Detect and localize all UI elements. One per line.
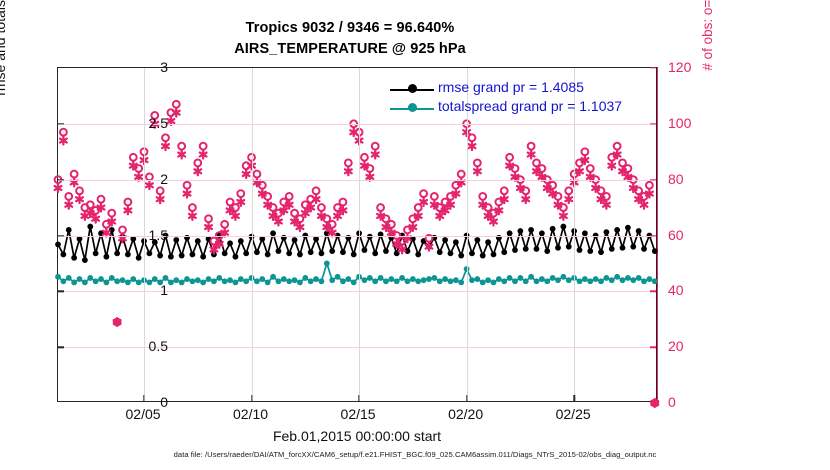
obs-possible-marker xyxy=(162,134,169,141)
obs-possible-marker xyxy=(474,160,481,167)
series-marker xyxy=(512,278,518,284)
series-marker xyxy=(405,278,411,284)
series-marker xyxy=(302,275,308,281)
series-marker xyxy=(646,276,652,282)
y-tick-mark-left xyxy=(58,346,64,347)
obs-assimilated-marker xyxy=(528,151,535,159)
series-marker xyxy=(351,280,357,286)
chart-title-line2: AIRS_TEMPERATURE @ 925 hPa xyxy=(0,39,700,60)
series-marker xyxy=(340,249,346,255)
y-tick-label-right: 100 xyxy=(668,115,708,131)
series-marker xyxy=(437,278,443,284)
obs-possible-marker xyxy=(415,204,422,211)
obs-assimilated-marker xyxy=(565,195,572,203)
legend-item-rmse: rmse grand pr = 1.4085 xyxy=(390,80,652,99)
legend-marker-totalspread xyxy=(408,103,417,112)
series-marker xyxy=(227,240,233,246)
series-marker xyxy=(71,280,77,286)
series-marker xyxy=(60,252,66,258)
series-marker xyxy=(442,276,448,282)
series-marker xyxy=(474,237,480,243)
series-marker xyxy=(136,255,142,261)
series-marker xyxy=(458,253,464,259)
series-marker xyxy=(308,249,314,255)
series-marker xyxy=(512,247,518,253)
obs-assimilated-marker xyxy=(60,137,67,145)
obs-possible-marker xyxy=(345,160,352,167)
series-marker xyxy=(523,246,529,252)
series-marker xyxy=(55,274,61,280)
y-tick-label-right: 40 xyxy=(668,282,708,298)
series-marker xyxy=(577,247,583,253)
obs-possible-marker xyxy=(60,129,67,136)
obs-assimilated-marker xyxy=(200,151,207,159)
series-marker xyxy=(259,276,265,282)
series-marker xyxy=(501,278,507,284)
series-marker xyxy=(179,280,185,286)
series-marker xyxy=(173,277,179,283)
y-axis-label-right: # of obs: o=possible; ×=assimilated xyxy=(700,0,715,95)
obs-assimilated-marker xyxy=(157,195,164,203)
series-marker xyxy=(87,275,93,281)
series-marker xyxy=(394,278,400,284)
x-axis-label: Feb.01,2015 00:00:00 start xyxy=(57,428,657,444)
obs-possible-marker xyxy=(565,187,572,194)
series-marker xyxy=(243,278,249,284)
obs-possible-marker xyxy=(372,143,379,150)
series-marker xyxy=(458,280,464,286)
series-marker xyxy=(566,244,572,250)
obs-possible-marker xyxy=(65,193,72,200)
obs-possible-marker xyxy=(184,182,191,189)
series-marker xyxy=(297,252,303,258)
obs-possible-marker xyxy=(528,143,535,150)
series-marker xyxy=(281,276,287,282)
series-marker xyxy=(173,237,179,243)
y-tick-mark-right xyxy=(650,235,656,236)
series-marker xyxy=(216,275,222,281)
y-tick-label-right: 0 xyxy=(668,394,708,410)
obs-assimilated-marker xyxy=(194,167,201,175)
y-tick-label-left: 2.5 xyxy=(128,115,168,131)
series-marker xyxy=(528,227,534,233)
series-marker xyxy=(577,278,583,284)
series-marker xyxy=(480,253,486,259)
series-marker xyxy=(265,252,271,258)
obs-possible-marker xyxy=(377,204,384,211)
series-marker xyxy=(652,278,658,284)
series-marker xyxy=(609,277,615,283)
series-marker xyxy=(410,276,416,282)
obs-possible-marker xyxy=(189,204,196,211)
series-marker xyxy=(93,278,99,284)
series-marker xyxy=(200,254,206,260)
series-marker xyxy=(614,274,620,280)
series-marker xyxy=(55,242,61,248)
obs-possible-marker xyxy=(173,101,180,108)
series-marker xyxy=(372,250,378,256)
series-marker xyxy=(378,275,384,281)
series-marker xyxy=(598,278,604,284)
series-marker xyxy=(276,248,282,254)
obs-possible-marker xyxy=(194,160,201,167)
series-marker xyxy=(120,277,126,283)
series-marker xyxy=(103,254,109,260)
series-marker xyxy=(227,277,233,283)
y-tick-mark-right xyxy=(650,179,656,180)
series-marker xyxy=(625,225,631,231)
x-tick-mark xyxy=(251,395,252,401)
series-line-totalspread xyxy=(58,263,655,282)
obs-possible-marker xyxy=(614,143,621,150)
series-marker xyxy=(254,278,260,284)
series-marker xyxy=(157,253,163,259)
series-marker xyxy=(103,280,109,286)
obs-assimilated-marker xyxy=(178,151,185,159)
series-marker xyxy=(534,278,540,284)
chart-legend: rmse grand pr = 1.4085 totalspread grand… xyxy=(390,80,652,120)
series-marker xyxy=(351,252,357,258)
series-marker xyxy=(190,278,196,284)
obs-assimilated-marker xyxy=(125,206,132,214)
series-marker xyxy=(200,280,206,286)
series-marker xyxy=(233,254,239,260)
obs-possible-marker xyxy=(157,187,164,194)
series-marker xyxy=(485,277,491,283)
figure-canvas: Tropics 9032 / 9346 = 96.640% AIRS_TEMPE… xyxy=(0,0,830,470)
obs-possible-marker xyxy=(469,134,476,141)
series-marker xyxy=(431,275,437,281)
obs-possible-marker xyxy=(458,171,465,178)
y-tick-mark-right xyxy=(650,346,656,347)
series-marker xyxy=(603,229,609,235)
series-marker xyxy=(292,237,298,243)
series-marker xyxy=(319,250,325,256)
series-marker xyxy=(168,280,174,286)
x-tick-label: 02/05 xyxy=(125,406,160,422)
series-marker xyxy=(98,276,104,282)
obs-possible-marker xyxy=(221,221,228,228)
y-tick-label-right: 80 xyxy=(668,171,708,187)
series-marker xyxy=(636,228,642,234)
series-marker xyxy=(286,278,292,284)
obs-possible-marker xyxy=(420,190,427,197)
y-tick-mark-right xyxy=(650,123,656,124)
y-axis-label-left: rmse and totalspread xyxy=(0,0,8,140)
series-marker xyxy=(582,276,588,282)
series-marker xyxy=(480,280,486,286)
series-marker xyxy=(544,248,550,254)
chart-title: Tropics 9032 / 9346 = 96.640% AIRS_TEMPE… xyxy=(0,18,700,60)
series-marker xyxy=(453,239,459,245)
series-marker xyxy=(270,274,276,280)
obs-possible-marker xyxy=(581,148,588,155)
series-marker xyxy=(625,275,631,281)
obs-possible-marker xyxy=(237,190,244,197)
series-marker xyxy=(469,250,475,256)
obs-possible-marker xyxy=(286,193,293,200)
y-tick-label-left: 0.5 xyxy=(128,338,168,354)
series-marker xyxy=(630,277,636,283)
series-marker xyxy=(620,245,626,251)
series-marker xyxy=(362,247,368,253)
y-tick-label-right: 60 xyxy=(668,227,708,243)
series-marker xyxy=(114,278,120,284)
series-marker xyxy=(620,277,626,283)
obs-possible-marker xyxy=(318,204,325,211)
obs-possible-marker xyxy=(205,215,212,222)
y-tick-label-right: 20 xyxy=(668,338,708,354)
obs-assimilated-marker xyxy=(65,201,72,209)
series-marker xyxy=(319,278,325,284)
series-marker xyxy=(448,250,454,256)
series-marker xyxy=(82,280,88,286)
series-marker xyxy=(77,236,83,242)
series-marker xyxy=(243,250,249,256)
series-marker xyxy=(233,280,239,286)
series-marker xyxy=(641,278,647,284)
series-marker xyxy=(523,278,529,284)
obs-possible-marker xyxy=(76,187,83,194)
x-tick-mark xyxy=(573,395,574,401)
obs-possible-marker xyxy=(431,193,438,200)
series-marker xyxy=(383,248,389,254)
series-marker xyxy=(362,277,368,283)
series-marker xyxy=(587,248,593,254)
grid-line-vertical xyxy=(252,68,253,401)
series-marker xyxy=(383,278,389,284)
x-tick-mark xyxy=(466,395,467,401)
y-tick-mark-left xyxy=(58,291,64,292)
obs-possible-marker xyxy=(479,193,486,200)
obs-possible-marker xyxy=(506,154,513,161)
x-tick-label: 02/15 xyxy=(341,406,376,422)
chart-title-line1: Tropics 9032 / 9346 = 96.640% xyxy=(0,18,700,39)
legend-label-totalspread: totalspread grand pr = 1.1037 xyxy=(438,98,622,114)
y-tick-mark-right xyxy=(650,402,656,403)
obs-assimilated-marker xyxy=(469,142,476,150)
series-marker xyxy=(539,276,545,282)
series-marker xyxy=(609,246,615,252)
obs-assimilated-marker xyxy=(55,184,62,192)
series-marker xyxy=(60,278,66,284)
series-marker xyxy=(560,224,566,230)
series-marker xyxy=(372,278,378,284)
series-marker xyxy=(517,275,523,281)
series-marker xyxy=(517,228,523,234)
series-marker xyxy=(560,274,566,280)
obs-assimilated-marker xyxy=(608,162,615,170)
series-marker xyxy=(66,275,72,281)
series-marker xyxy=(603,275,609,281)
series-marker xyxy=(415,252,421,258)
obs-possible-marker xyxy=(361,154,368,161)
y-tick-mark-right xyxy=(650,67,656,68)
data-file-footer: data file: /Users/raeder/DAI/ATM_forcXX/… xyxy=(0,450,830,459)
series-marker xyxy=(453,277,459,283)
obs-assimilated-marker xyxy=(76,195,83,203)
obs-possible-marker xyxy=(646,182,653,189)
obs-possible-marker xyxy=(340,199,347,206)
series-marker xyxy=(550,275,556,281)
series-marker xyxy=(367,275,373,281)
series-marker xyxy=(388,276,394,282)
series-marker xyxy=(442,237,448,243)
legend-label-rmse: rmse grand pr = 1.4085 xyxy=(438,79,584,95)
series-marker xyxy=(114,250,120,256)
series-marker xyxy=(491,280,497,286)
obs-possible-marker xyxy=(130,154,137,161)
series-marker xyxy=(598,249,604,255)
series-marker xyxy=(501,249,507,255)
series-marker xyxy=(222,278,228,284)
series-marker xyxy=(593,276,599,282)
series-marker xyxy=(636,275,642,281)
x-tick-label: 02/25 xyxy=(556,406,591,422)
series-marker xyxy=(345,276,351,282)
series-marker xyxy=(259,236,265,242)
series-marker xyxy=(265,280,271,286)
series-marker xyxy=(426,276,432,282)
series-marker xyxy=(206,276,212,282)
obs-assimilated-marker xyxy=(372,151,379,159)
y-tick-mark-left xyxy=(58,179,64,180)
series-marker xyxy=(399,275,405,281)
series-marker xyxy=(507,275,513,281)
obs-possible-marker xyxy=(313,187,320,194)
series-marker xyxy=(641,246,647,252)
series-marker xyxy=(130,276,136,282)
y-tick-label-left: 2 xyxy=(128,171,168,187)
series-marker xyxy=(297,280,303,286)
series-marker xyxy=(340,278,346,284)
series-marker xyxy=(168,254,174,260)
obs-possible-marker xyxy=(200,143,207,150)
series-marker xyxy=(474,276,480,282)
series-marker xyxy=(324,261,330,267)
series-marker xyxy=(329,277,335,283)
series-marker xyxy=(276,278,282,284)
series-marker xyxy=(335,274,341,280)
obs-possible-marker xyxy=(587,165,594,172)
y-tick-label-left: 1 xyxy=(128,282,168,298)
series-marker xyxy=(179,253,185,259)
series-marker xyxy=(308,278,314,284)
obs-possible-marker xyxy=(254,171,261,178)
series-marker xyxy=(415,278,421,284)
obs-assimilated-marker xyxy=(345,167,352,175)
series-marker xyxy=(184,276,190,282)
series-marker xyxy=(211,278,217,284)
series-marker xyxy=(496,276,502,282)
obs-assimilated-marker xyxy=(560,212,567,220)
series-marker xyxy=(630,244,636,250)
obs-possible-marker xyxy=(178,143,185,150)
series-marker xyxy=(587,278,593,284)
series-marker xyxy=(163,275,169,281)
obs-possible-marker xyxy=(108,210,115,217)
obs-assimilated-marker xyxy=(189,212,196,220)
series-marker xyxy=(77,276,83,282)
obs-assimilated-marker xyxy=(184,190,191,198)
obs-possible-marker xyxy=(119,227,126,234)
y-tick-label-left: 3 xyxy=(128,59,168,75)
series-marker xyxy=(146,250,152,256)
obs-assimilated-marker xyxy=(205,223,212,231)
series-marker xyxy=(254,249,260,255)
grid-line-vertical xyxy=(359,68,360,401)
y-tick-mark-left xyxy=(58,123,64,124)
series-marker xyxy=(292,277,298,283)
series-marker xyxy=(238,276,244,282)
obs-assimilated-marker xyxy=(522,195,529,203)
x-tick-mark xyxy=(358,395,359,401)
series-marker xyxy=(66,227,72,233)
series-marker xyxy=(286,250,292,256)
legend-item-totalspread: totalspread grand pr = 1.1037 xyxy=(390,99,652,118)
series-marker xyxy=(195,277,201,283)
series-marker xyxy=(555,277,561,283)
obs-assimilated-marker xyxy=(243,170,250,178)
series-marker xyxy=(125,252,131,258)
y-tick-label-right: 120 xyxy=(668,59,708,75)
series-marker xyxy=(534,246,540,252)
series-marker xyxy=(550,226,556,232)
series-marker xyxy=(614,227,620,233)
obs-possible-marker xyxy=(98,196,105,203)
series-marker xyxy=(195,238,201,244)
series-marker xyxy=(448,278,454,284)
y-tick-label-left: 1.5 xyxy=(128,227,168,243)
series-marker xyxy=(71,255,77,261)
series-marker xyxy=(238,238,244,244)
x-tick-label: 02/20 xyxy=(448,406,483,422)
series-marker xyxy=(437,249,443,255)
obs-possible-marker xyxy=(124,199,131,206)
series-marker xyxy=(313,276,319,282)
series-marker xyxy=(82,257,88,263)
series-marker xyxy=(469,277,475,283)
series-marker xyxy=(152,276,158,282)
series-marker xyxy=(555,245,561,251)
series-marker xyxy=(566,277,572,283)
series-marker xyxy=(222,250,228,256)
series-marker xyxy=(87,224,93,230)
series-marker xyxy=(421,277,427,283)
obs-assimilated-marker xyxy=(162,142,169,150)
series-marker xyxy=(93,250,99,256)
obs-assimilated-marker xyxy=(474,167,481,175)
x-tick-label: 02/10 xyxy=(233,406,268,422)
legend-marker-rmse xyxy=(408,84,417,93)
series-marker xyxy=(491,252,497,258)
y-tick-mark-right xyxy=(650,291,656,292)
series-marker xyxy=(329,248,335,254)
series-marker xyxy=(109,275,115,281)
series-marker xyxy=(313,236,319,242)
obs-possible-marker xyxy=(71,171,78,178)
y-tick-mark-left xyxy=(58,235,64,236)
series-marker xyxy=(652,248,658,254)
series-marker xyxy=(544,278,550,284)
obs-possible-marker xyxy=(501,187,508,194)
series-marker xyxy=(528,274,534,280)
series-marker xyxy=(190,252,196,258)
series-marker xyxy=(485,239,491,245)
